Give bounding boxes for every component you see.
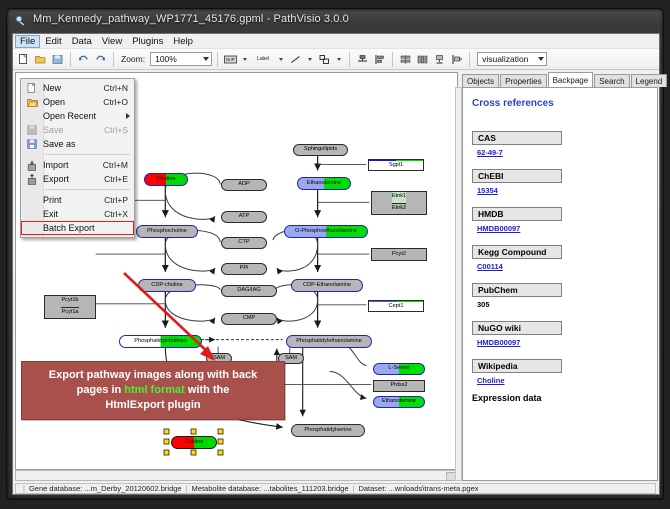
cross-references-heading: Cross references bbox=[472, 98, 657, 109]
zoom-value: 100% bbox=[155, 54, 177, 64]
menu-help[interactable]: Help bbox=[168, 35, 198, 48]
toolbar-separator bbox=[469, 52, 470, 67]
main-toolbar: Zoom: 100% GnP Label bbox=[13, 49, 659, 70]
menu-item-label: Open bbox=[43, 97, 103, 107]
submenu-arrow-icon bbox=[126, 113, 130, 119]
menu-item-label: Export bbox=[43, 174, 104, 184]
tab-backpage[interactable]: Backpage bbox=[548, 72, 594, 87]
xref-wikipedia: Wikipedia Choline bbox=[472, 359, 657, 385]
xref-hmdb: HMDB HMDB00097 bbox=[472, 207, 657, 233]
xref-cas: CAS 62-49-7 bbox=[472, 131, 657, 157]
export-icon bbox=[21, 174, 43, 185]
menu-item-open-recent[interactable]: Open Recent bbox=[21, 109, 134, 123]
menu-item-label: Save bbox=[43, 125, 104, 135]
tab-legend[interactable]: Legend bbox=[631, 74, 668, 87]
xref-nugo-wiki: NuGO wiki HMDB00097 bbox=[472, 321, 657, 347]
menu-item-label: Import bbox=[43, 160, 103, 170]
align-center-icon[interactable] bbox=[355, 52, 370, 67]
shape-tool-icon[interactable] bbox=[317, 52, 332, 67]
menu-item-new[interactable]: New Ctrl+N bbox=[21, 81, 134, 95]
toolbar-separator bbox=[349, 52, 350, 67]
xref-value-link[interactable]: HMDB00097 bbox=[477, 338, 657, 347]
window-title-bar[interactable]: Mm_Kennedy_pathway_WP1771_45176.gpml - P… bbox=[7, 9, 663, 33]
xref-label: Kegg Compound bbox=[472, 245, 562, 259]
new-document-icon bbox=[21, 83, 43, 94]
import-icon bbox=[21, 160, 43, 171]
status-bar: | Gene database: ...m_Derby_20120602.bri… bbox=[15, 483, 656, 494]
expression-data-heading: Expression data bbox=[472, 393, 657, 403]
xref-chebi: ChEBI 15354 bbox=[472, 169, 657, 195]
menu-item-batch-export[interactable]: Batch Export bbox=[21, 221, 134, 235]
menu-item-accelerator: Ctrl+O bbox=[103, 97, 134, 107]
backpage-content: Cross references CAS 62-49-7 ChEBI 15354… bbox=[462, 87, 658, 481]
xref-value-link[interactable]: 62-49-7 bbox=[477, 148, 657, 157]
tab-search[interactable]: Search bbox=[594, 74, 629, 87]
menu-item-accelerator: Ctrl+N bbox=[104, 83, 134, 93]
status-gene-database-label: Gene database: bbox=[29, 484, 82, 493]
xref-label: ChEBI bbox=[472, 169, 562, 183]
chevron-down-icon bbox=[538, 57, 544, 61]
xref-label: NuGO wiki bbox=[472, 321, 562, 335]
datanode-tool-icon[interactable]: GnP bbox=[223, 52, 238, 67]
redo-icon[interactable] bbox=[93, 52, 108, 67]
order-icon[interactable] bbox=[449, 52, 464, 67]
callout-line-3: HtmlExport plugin bbox=[105, 398, 200, 413]
callout-line-2b: with the bbox=[185, 384, 230, 396]
callout-line-2: pages in html format with the bbox=[77, 383, 230, 398]
menu-data[interactable]: Data bbox=[67, 35, 97, 48]
menu-item-label: New bbox=[43, 83, 104, 93]
zoom-label: Zoom: bbox=[121, 54, 145, 64]
menu-item-label: Open Recent bbox=[43, 111, 134, 121]
distribute-icon[interactable] bbox=[415, 52, 430, 67]
screenshot-root: Mm_Kennedy_pathway_WP1771_45176.gpml - P… bbox=[0, 0, 670, 509]
xref-label: HMDB bbox=[472, 207, 562, 221]
line-dropdown-icon[interactable] bbox=[308, 58, 312, 61]
callout-line-1: Export pathway images along with back bbox=[49, 368, 257, 383]
menu-item-label: Print bbox=[43, 195, 104, 205]
datanode-dropdown-icon[interactable] bbox=[243, 58, 247, 61]
menu-item-accelerator: Ctrl+E bbox=[104, 174, 134, 184]
undo-icon[interactable] bbox=[76, 52, 91, 67]
shape-dropdown-icon[interactable] bbox=[337, 58, 341, 61]
xref-label: Wikipedia bbox=[472, 359, 562, 373]
xref-value-link[interactable]: C00114 bbox=[477, 262, 657, 271]
menu-item-accelerator: Ctrl+X bbox=[104, 209, 134, 219]
window-title: Mm_Kennedy_pathway_WP1771_45176.gpml - P… bbox=[33, 13, 349, 25]
label-tool-text: Label bbox=[257, 56, 269, 62]
tab-properties[interactable]: Properties bbox=[500, 74, 546, 87]
save-icon[interactable] bbox=[50, 52, 65, 67]
group-icon[interactable] bbox=[432, 52, 447, 67]
stack-horizontal-icon[interactable] bbox=[398, 52, 413, 67]
xref-value-link[interactable]: HMDB00097 bbox=[477, 224, 657, 233]
client-area: File Edit Data View Plugins Help bbox=[12, 33, 660, 495]
menu-separator bbox=[45, 154, 130, 155]
new-icon[interactable] bbox=[16, 52, 31, 67]
save-icon bbox=[21, 125, 43, 135]
chevron-down-icon bbox=[203, 57, 209, 61]
side-panel-tabs: Objects Properties Backpage Search Legen… bbox=[462, 72, 658, 87]
label-dropdown-icon[interactable] bbox=[279, 58, 283, 61]
menu-item-exit[interactable]: Exit Ctrl+X bbox=[21, 207, 134, 221]
visualization-value: visualization bbox=[482, 54, 528, 64]
xref-value-link[interactable]: 15354 bbox=[477, 186, 657, 195]
toolbar-separator bbox=[217, 52, 218, 67]
annotation-callout: Export pathway images along with back pa… bbox=[21, 361, 285, 420]
pathvisio-icon bbox=[15, 15, 27, 27]
line-tool-icon[interactable] bbox=[288, 52, 303, 67]
menu-item-open[interactable]: Open Ctrl+O bbox=[21, 95, 134, 109]
menu-view[interactable]: View bbox=[97, 35, 127, 48]
status-metabolite-database-value: ...tabolites_111203.bridge bbox=[263, 484, 348, 493]
xref-kegg-compound: Kegg Compound C00114 bbox=[472, 245, 657, 271]
canvas-horizontal-scrollbar[interactable] bbox=[15, 470, 458, 481]
status-divider: | bbox=[352, 484, 354, 493]
menu-edit[interactable]: Edit bbox=[40, 35, 66, 48]
align-left-icon[interactable] bbox=[372, 52, 387, 67]
menu-item-export[interactable]: Export Ctrl+E bbox=[21, 172, 134, 186]
xref-value: 305 bbox=[477, 300, 657, 309]
menu-item-label: Batch Export bbox=[43, 223, 134, 233]
side-panel: Objects Properties Backpage Search Legen… bbox=[462, 72, 658, 481]
visualization-combo[interactable]: visualization bbox=[477, 52, 547, 66]
file-menu-popup[interactable]: New Ctrl+N Open Ctrl+O Open Recent Save bbox=[20, 78, 135, 238]
menu-item-print[interactable]: Print Ctrl+P bbox=[21, 193, 134, 207]
tab-objects[interactable]: Objects bbox=[462, 74, 499, 87]
menu-plugins[interactable]: Plugins bbox=[127, 35, 168, 48]
menu-item-accelerator: Ctrl+P bbox=[104, 195, 134, 205]
status-dataset-label: Dataset: bbox=[358, 484, 386, 493]
menu-item-label: Save as bbox=[43, 139, 128, 149]
callout-line-2a: pages in bbox=[77, 384, 125, 396]
application-window: Mm_Kennedy_pathway_WP1771_45176.gpml - P… bbox=[6, 8, 664, 500]
menu-item-label: Exit bbox=[43, 209, 104, 219]
toolbar-separator bbox=[392, 52, 393, 67]
menu-separator bbox=[45, 189, 130, 190]
open-icon[interactable] bbox=[33, 52, 48, 67]
xref-pubchem: PubChem 305 bbox=[472, 283, 657, 309]
xref-value-link[interactable]: Choline bbox=[477, 376, 657, 385]
menu-item-save-as[interactable]: Save as bbox=[21, 137, 134, 151]
menu-item-accelerator: Ctrl+S bbox=[104, 125, 134, 135]
status-metabolite-database-label: Metabolite database: bbox=[192, 484, 262, 493]
status-divider: | bbox=[23, 484, 25, 493]
status-dataset-value: ...wnloads\trans-meta.pgex bbox=[388, 484, 478, 493]
menu-item-import[interactable]: Import Ctrl+M bbox=[21, 158, 134, 172]
side-panel-scrollbar[interactable] bbox=[455, 87, 462, 481]
toolbar-separator bbox=[113, 52, 114, 67]
toolbar-separator bbox=[70, 52, 71, 67]
xref-label: CAS bbox=[472, 131, 562, 145]
status-divider: | bbox=[186, 484, 188, 493]
status-gene-database-value: ...m_Derby_20120602.bridge bbox=[84, 484, 181, 493]
menu-file[interactable]: File bbox=[15, 35, 40, 48]
zoom-combo[interactable]: 100% bbox=[150, 52, 212, 66]
folder-open-icon bbox=[21, 98, 43, 107]
save-as-icon bbox=[21, 139, 43, 149]
menu-bar: File Edit Data View Plugins Help bbox=[13, 34, 659, 49]
label-tool-icon[interactable]: Label bbox=[252, 52, 274, 67]
xref-label: PubChem bbox=[472, 283, 562, 297]
menu-item-accelerator: Ctrl+M bbox=[103, 160, 134, 170]
callout-highlight: html format bbox=[124, 384, 185, 396]
svg-text:GnP: GnP bbox=[226, 57, 235, 62]
menu-item-save: Save Ctrl+S bbox=[21, 123, 134, 137]
